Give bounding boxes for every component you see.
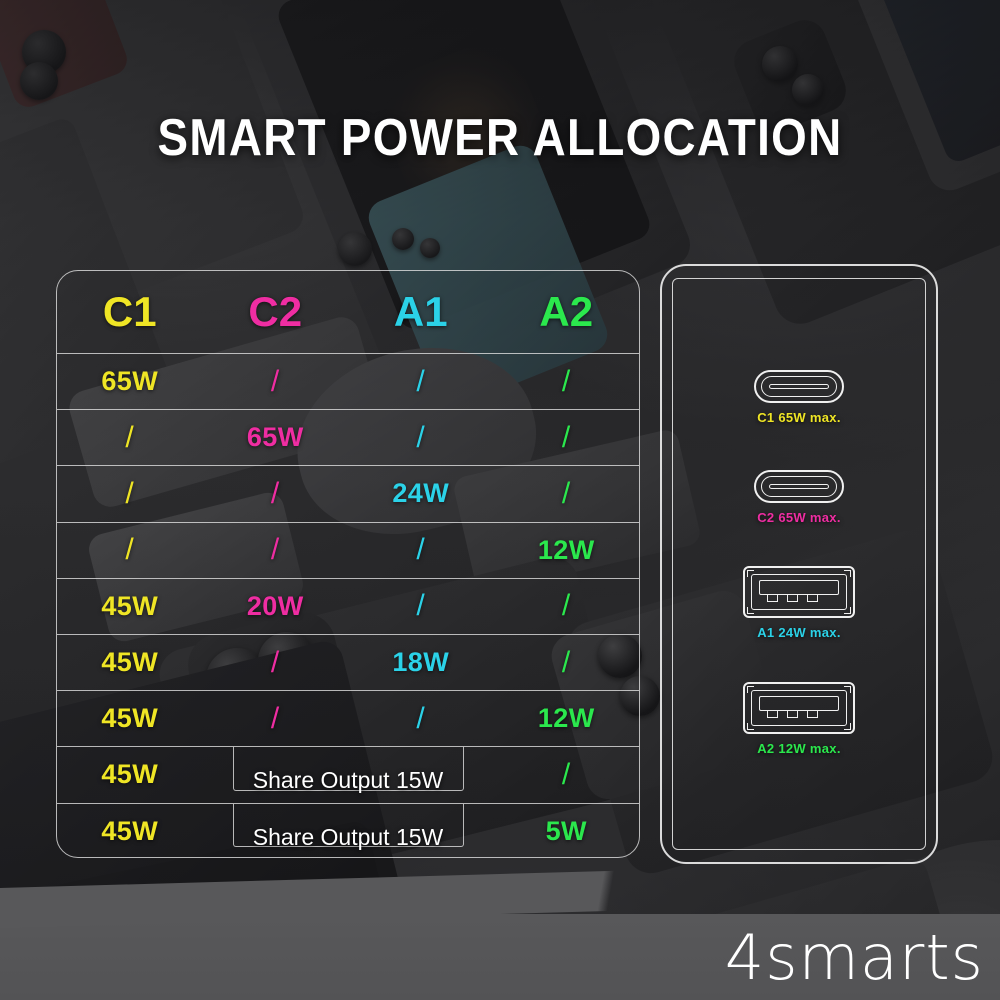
table-row: 65W / / / [57, 353, 639, 409]
usb-a-blade [759, 580, 839, 595]
share-output-label: Share Output 15W [247, 824, 450, 851]
cell-a1: / [348, 523, 494, 578]
usb-a-corner-br [844, 723, 851, 730]
port-a2-label: A2 12W max. [743, 741, 855, 756]
share-output-label: Share Output 15W [247, 767, 450, 794]
cell-a2: / [494, 579, 640, 634]
cell-share-output: Share Output 15W [203, 804, 494, 859]
port-c2-label: C2 65W max. [754, 510, 844, 525]
cell-a2: 5W [494, 804, 640, 859]
usb-a-blade [759, 696, 839, 711]
cell-c1: 45W [57, 579, 203, 634]
cell-share-output: Share Output 15W [203, 747, 494, 802]
table-row: / 65W / / [57, 409, 639, 465]
page-title: SMART POWER ALLOCATION [60, 108, 940, 168]
usb-a-icon [743, 682, 855, 734]
port-c1-label: C1 65W max. [754, 410, 844, 425]
table-row: / / 24W / [57, 465, 639, 521]
column-header-c1: C1 [57, 271, 203, 353]
usb-c-icon [754, 470, 844, 503]
column-header-a1: A1 [348, 271, 494, 353]
cell-a2: 12W [494, 523, 640, 578]
cell-a2: / [494, 410, 640, 465]
cell-c2: / [203, 691, 349, 746]
brand-logo: 4smarts [725, 921, 984, 994]
usb-a-icon [743, 566, 855, 618]
cell-a1: / [348, 354, 494, 409]
usb-a-corner-br [844, 607, 851, 614]
usb-c-icon [754, 370, 844, 403]
port-a2: A2 12W max. [743, 682, 855, 756]
cell-c2: / [203, 354, 349, 409]
column-header-a2: A2 [494, 271, 640, 353]
usb-a-pin-1 [767, 711, 778, 718]
usb-a-corner-bl [747, 723, 754, 730]
usb-a-corner-tl [747, 570, 754, 577]
usb-a-pin-2 [787, 711, 798, 718]
cell-c1: 45W [57, 747, 203, 802]
usb-a-pin-3 [807, 711, 818, 718]
port-c1: C1 65W max. [754, 370, 844, 425]
cell-c1: 45W [57, 635, 203, 690]
table-row-share: 45W Share Output 15W 5W [57, 803, 639, 859]
column-header-c2: C2 [203, 271, 349, 353]
table-row: 45W / 18W / [57, 634, 639, 690]
cell-c2: 65W [203, 410, 349, 465]
cell-a1: 24W [348, 466, 494, 521]
table-row: 45W 20W / / [57, 578, 639, 634]
usb-a-corner-tl [747, 686, 754, 693]
cell-a2: 12W [494, 691, 640, 746]
cell-c2: / [203, 466, 349, 521]
usb-a-corner-tr [844, 686, 851, 693]
cell-a2: / [494, 466, 640, 521]
table-row: / / / 12W [57, 522, 639, 578]
cell-a2: / [494, 354, 640, 409]
usb-a-pin-1 [767, 595, 778, 602]
cell-c1: 45W [57, 804, 203, 859]
cell-c1: 45W [57, 691, 203, 746]
port-c2: C2 65W max. [754, 470, 844, 525]
usb-a-pin-2 [787, 595, 798, 602]
table-row-share: 45W Share Output 15W / [57, 746, 639, 802]
cell-a1: 18W [348, 635, 494, 690]
cell-c2: / [203, 635, 349, 690]
cell-c1: 65W [57, 354, 203, 409]
cell-c1: / [57, 410, 203, 465]
table-header-row: C1 C2 A1 A2 [57, 271, 639, 353]
port-a1-label: A1 24W max. [743, 625, 855, 640]
usb-a-corner-bl [747, 607, 754, 614]
cell-a2: / [494, 635, 640, 690]
usb-a-pin-3 [807, 595, 818, 602]
power-allocation-table: C1 C2 A1 A2 65W / / / / 65W / / / / 24W … [56, 270, 640, 858]
cell-c1: / [57, 466, 203, 521]
cell-a2: / [494, 747, 640, 802]
cell-a1: / [348, 691, 494, 746]
cell-a1: / [348, 410, 494, 465]
power-bank-outline-diagram: C1 65W max. C2 65W max. A1 24W max. [660, 264, 938, 864]
usb-a-corner-tr [844, 570, 851, 577]
table-row: 45W / / 12W [57, 690, 639, 746]
cell-a1: / [348, 579, 494, 634]
cell-c2: 20W [203, 579, 349, 634]
port-a1: A1 24W max. [743, 566, 855, 640]
cell-c1: / [57, 523, 203, 578]
power-bank-frame-inner [672, 278, 926, 850]
cell-c2: / [203, 523, 349, 578]
